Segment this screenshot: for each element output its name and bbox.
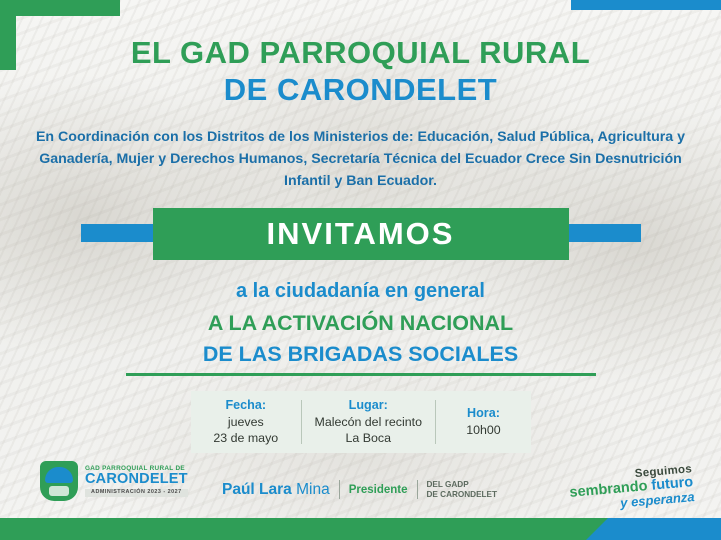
signature-block: Paúl Lara Mina Presidente DEL GADP DE CA…: [222, 480, 497, 501]
invitamos-banner: INVITAMOS: [81, 208, 641, 260]
signature-name: Paúl Lara Mina: [222, 481, 330, 499]
signature-org-line2: DE CARONDELET: [427, 490, 498, 500]
detail-time-heading: Hora:: [467, 406, 500, 422]
logo-bottom-text: ADMINISTRACIÓN 2023 - 2027: [85, 489, 188, 497]
audience-line: a la ciudadanía en general: [0, 280, 721, 303]
signature-org-line1: DEL GADP: [427, 480, 498, 490]
poster-subtitle: En Coordinación con los Distritos de los…: [31, 127, 691, 192]
signature-role: Presidente: [349, 484, 408, 496]
signature-org: DEL GADP DE CARONDELET: [427, 480, 498, 501]
detail-place-line2: La Boca: [346, 430, 391, 446]
detail-time: Hora: 10h00: [436, 391, 531, 453]
detail-time-line1: 10h00: [466, 422, 500, 438]
poster-title-line1: EL GAD PARROQUIAL RURAL: [0, 36, 721, 71]
logo-main-text: CARONDELET: [85, 472, 188, 488]
poster-content: EL GAD PARROQUIAL RURAL DE CARONDELET En…: [0, 0, 721, 376]
detail-date-line1: jueves: [228, 414, 264, 430]
signature-name-bold: Paúl Lara: [222, 481, 292, 498]
gad-logo: GAD PARROQUIAL RURAL DE CARONDELET ADMIN…: [40, 458, 200, 504]
invitamos-label: INVITAMOS: [267, 216, 455, 252]
event-details-panel: Fecha: jueves 23 de mayo Lugar: Malecón …: [191, 391, 531, 453]
signature-name-light: Mina: [296, 481, 330, 498]
poster-canvas: EL GAD PARROQUIAL RURAL DE CARONDELET En…: [0, 0, 721, 540]
event-line-2: DE LAS BRIGADAS SOCIALES: [126, 342, 596, 373]
signature-divider-2: [417, 480, 418, 499]
detail-place-heading: Lugar:: [349, 398, 388, 414]
detail-date-heading: Fecha:: [225, 398, 266, 414]
event-line-1: A LA ACTIVACIÓN NACIONAL: [0, 311, 721, 336]
detail-date: Fecha: jueves 23 de mayo: [191, 391, 301, 453]
signature-divider-1: [339, 480, 340, 499]
shield-logo-icon: [40, 461, 78, 501]
footer-band-blue: [586, 518, 721, 540]
invitamos-box: INVITAMOS: [153, 208, 569, 260]
detail-date-line2: 23 de mayo: [213, 430, 278, 446]
poster-title-line2: DE CARONDELET: [0, 73, 721, 108]
logo-text-block: GAD PARROQUIAL RURAL DE CARONDELET ADMIN…: [85, 465, 188, 497]
detail-place: Lugar: Malecón del recinto La Boca: [302, 391, 435, 453]
event-line-2-wrap: DE LAS BRIGADAS SOCIALES: [126, 342, 596, 376]
event-underline: [126, 373, 596, 376]
detail-place-line1: Malecón del recinto: [315, 414, 422, 430]
